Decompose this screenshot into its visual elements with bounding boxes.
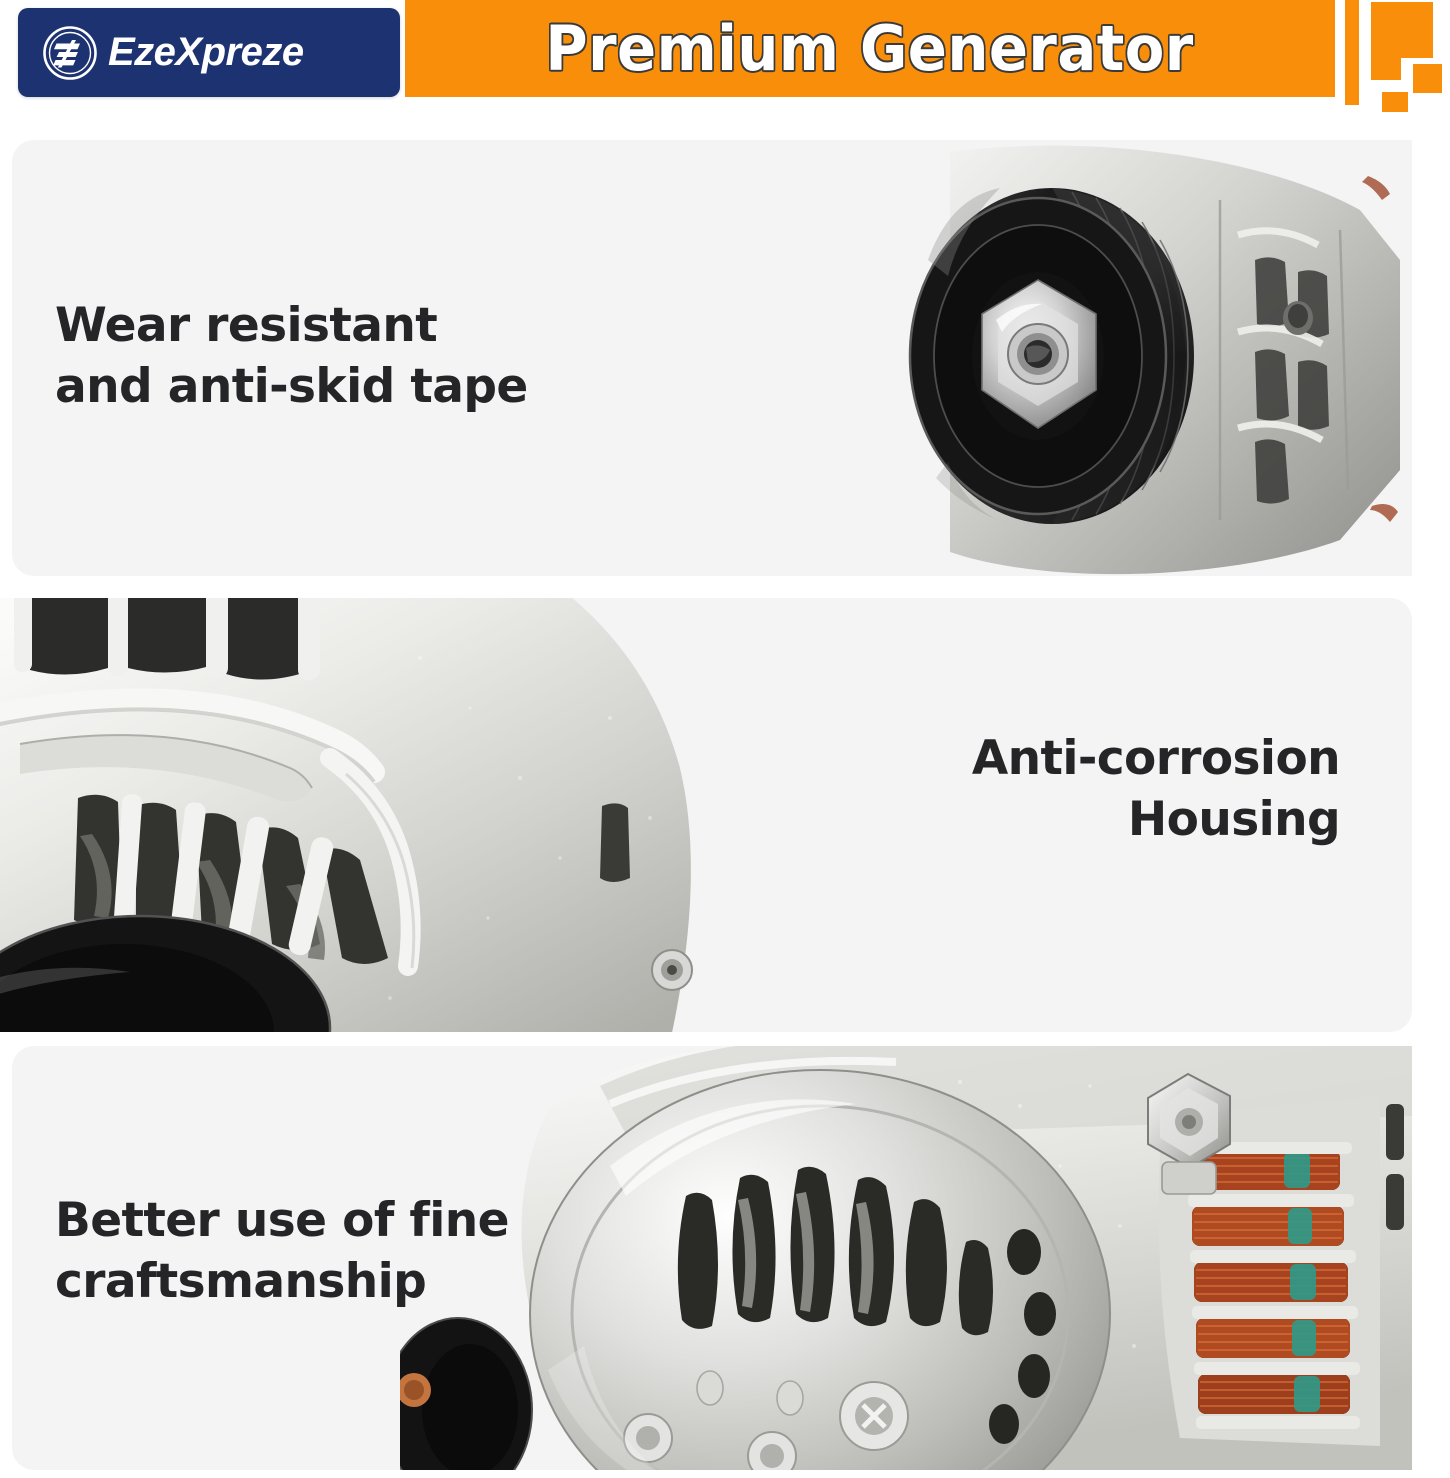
panel-caption-wear-resistant: Wear resistant and anti-skid tape [55,295,528,417]
alternator-housing-closeup-image [0,598,720,1032]
eze-circle-bolt-icon [42,25,98,81]
alternator-rear-vents-windings-image [400,1046,1412,1470]
header-banner: EzeXpreze Premium Generator [0,0,1450,104]
title-bar: Premium Generator [405,0,1335,97]
product-infographic-page: EzeXpreze Premium Generator [0,0,1450,1478]
brand-plate: EzeXpreze [18,8,400,97]
orange-mosaic-squares-icon [1345,0,1450,112]
page-title: Premium Generator [546,12,1194,85]
panel-caption-craftsmanship: Better use of fine craftsmanship [55,1190,509,1312]
alternator-pulley-closeup-image [800,140,1412,576]
panel-caption-anti-corrosion: Anti-corrosion Housing [972,728,1340,850]
brand-name: EzeXpreze [108,30,304,75]
